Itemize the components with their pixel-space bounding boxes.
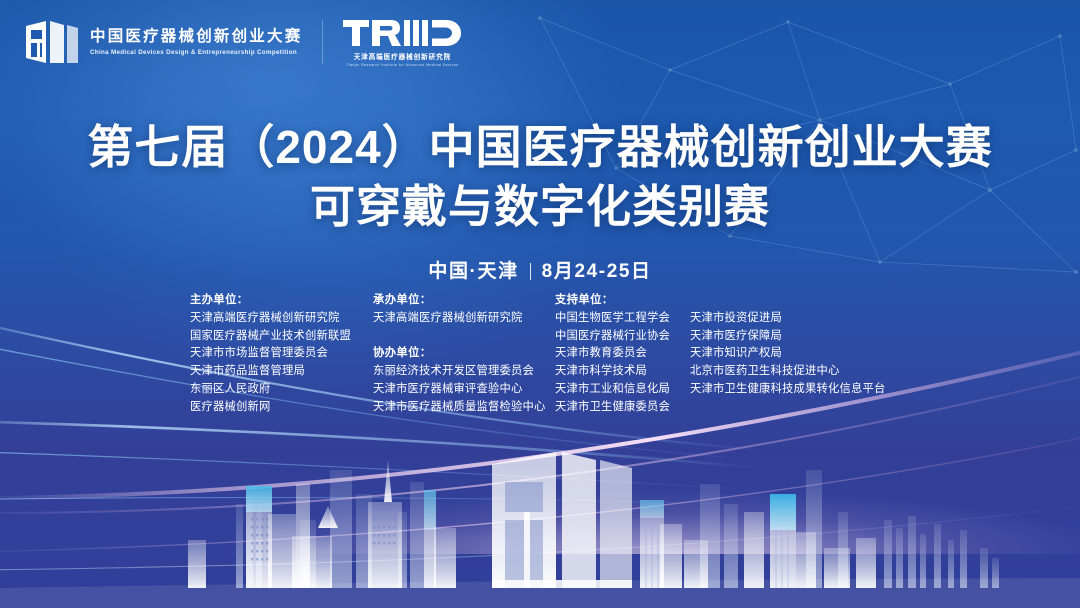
page-title-line2: 可穿戴与数字化类别赛 <box>0 178 1080 237</box>
cmdc-logo[interactable]: 中国医疗器械创新创业大赛 China Medical Devices Desig… <box>22 18 302 66</box>
organizer-item: 天津市药品监督管理局 <box>190 363 373 381</box>
supporter-item: 天津市卫生健康科技成果转化信息平台 <box>690 381 900 399</box>
supporter-item: 天津市科学技术局 <box>555 363 690 381</box>
supporter-item: 天津市工业和信息化局 <box>555 381 690 399</box>
open-door-book-logo-icon <box>22 18 80 66</box>
trimd-title-cn: 天津高端医疗器械创新研究院 <box>354 51 451 61</box>
supporter-item: 天津市医疗保障局 <box>690 328 900 346</box>
organizer-heading: 主办单位： <box>190 292 373 310</box>
undertaker-coorganizer-column: 承办单位： 天津高端医疗器械创新研究院 协办单位： 东丽经济技术开发区管理委员会… <box>373 292 555 417</box>
supporter-item: 中国医疗器械行业协会 <box>555 328 690 346</box>
trimd-wordmark-icon <box>343 18 461 48</box>
credits-block: 主办单位： 天津高端医疗器械创新研究院 国家医疗器械产业技术创新联盟 天津市市场… <box>190 292 900 417</box>
organizer-item: 国家医疗器械产业技术创新联盟 <box>190 328 373 346</box>
event-location: 中国·天津 <box>428 261 518 282</box>
undertaker-item: 天津高端医疗器械创新研究院 <box>373 310 555 328</box>
organizer-item: 天津市市场监督管理委员会 <box>190 345 373 363</box>
supporter-item: 天津市卫生健康委员会 <box>555 399 690 417</box>
page-title-line1: 第七届（2024）中国医疗器械创新创业大赛 <box>0 118 1080 178</box>
hero-titles: 第七届（2024）中国医疗器械创新创业大赛 可穿戴与数字化类别赛 中国·天津8月… <box>0 118 1080 283</box>
supporter-item: 天津市教育委员会 <box>555 345 690 363</box>
column-spacer <box>373 328 555 346</box>
supporter-item: 天津市投资促进局 <box>690 310 900 328</box>
cmdc-title-cn: 中国医疗器械创新创业大赛 <box>90 28 302 46</box>
cmdc-title-en: China Medical Devices Design & Entrepren… <box>90 49 302 56</box>
organizer-item: 天津高端医疗器械创新研究院 <box>190 310 373 328</box>
event-poster: 中国医疗器械创新创业大赛 China Medical Devices Desig… <box>0 0 1080 608</box>
header-logos: 中国医疗器械创新创业大赛 China Medical Devices Desig… <box>22 18 461 67</box>
organizer-item: 东丽区人民政府 <box>190 381 373 399</box>
logo-divider <box>322 20 323 64</box>
event-dates: 8月24-25日 <box>542 261 652 282</box>
event-subtitle: 中国·天津8月24-25日 <box>0 256 1080 283</box>
supporter-item: 北京市医药卫生科技促进中心 <box>690 363 900 381</box>
trimd-title-en: Tianjin Research Institute for Advanced … <box>346 63 458 67</box>
trimd-logo[interactable]: 天津高端医疗器械创新研究院 Tianjin Research Institute… <box>343 18 461 67</box>
supporter-item: 天津市知识产权局 <box>690 345 900 363</box>
organizer-column: 主办单位： 天津高端医疗器械创新研究院 国家医疗器械产业技术创新联盟 天津市市场… <box>190 292 373 417</box>
undertaker-heading: 承办单位： <box>373 292 555 310</box>
supporter-column-2: 天津市投资促进局 天津市医疗保障局 天津市知识产权局 北京市医药卫生科技促进中心… <box>690 292 900 399</box>
coorganizer-item: 天津市医疗器械审评查验中心 <box>373 381 555 399</box>
supporter-heading: 支持单位： <box>555 292 690 310</box>
supporter-column-1: 支持单位： 中国生物医学工程学会 中国医疗器械行业协会 天津市教育委员会 天津市… <box>555 292 690 417</box>
city-skyline <box>0 408 1080 608</box>
coorganizer-heading: 协办单位： <box>373 345 555 363</box>
coorganizer-item: 东丽经济技术开发区管理委员会 <box>373 363 555 381</box>
supporter-item: 中国生物医学工程学会 <box>555 310 690 328</box>
coorganizer-item: 天津市医疗器械质量监督检验中心 <box>373 399 555 417</box>
subtitle-separator <box>530 263 531 280</box>
organizer-item: 医疗器械创新网 <box>190 399 373 417</box>
open-door-monument <box>492 452 632 588</box>
